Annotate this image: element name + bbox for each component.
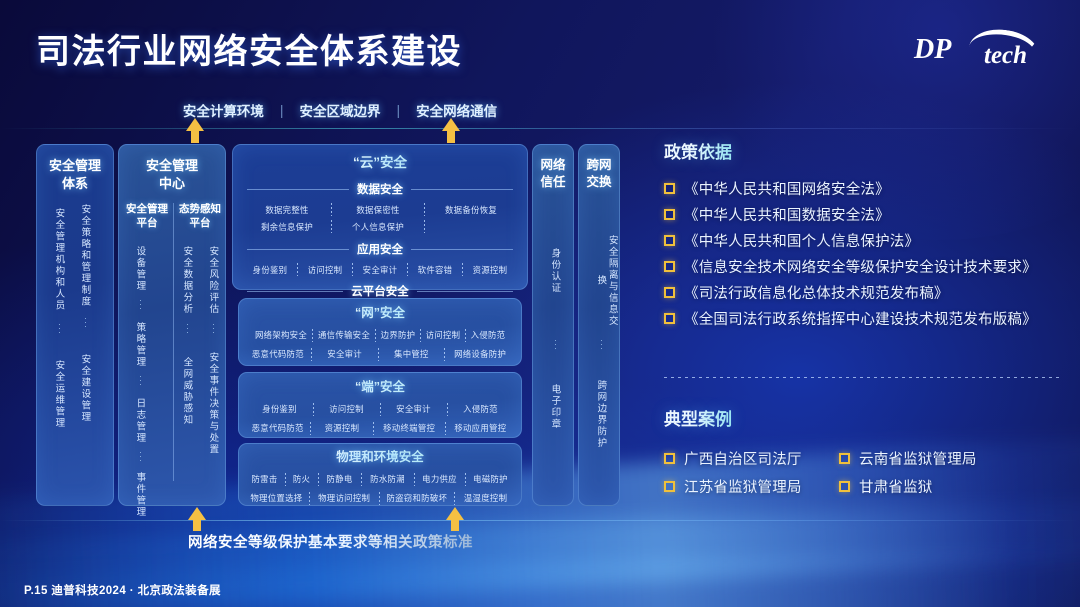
panel-security-management-center[interactable]: 安全管理 中心 安全管理 平台 设备管理 ··· 策略管理 ··· 日志管理 ·… <box>118 144 226 506</box>
mgmt-center-g1-item3: 日志管理 <box>134 393 145 449</box>
mgmt-center-g2-dots2: ··· <box>183 323 193 335</box>
policy-list-item[interactable]: 《中华人民共和国网络安全法》 <box>664 178 1037 199</box>
case-text: 云南省监狱管理局 <box>859 448 977 469</box>
cloud-item-data-confidentiality: 数据保密性 <box>332 204 424 216</box>
arrow-up-head-left <box>186 118 204 131</box>
mgmt-system-col2-top: 安全管理机构和人员 <box>53 201 64 319</box>
policy-text: 《全国司法行政系统指挥中心建设技术规范发布版稿》 <box>684 308 1037 329</box>
policy-text: 《信息安全技术网络安全等级保护安全设计技术要求》 <box>684 256 1037 277</box>
trust-item-e-seal: 电子印章 <box>549 379 560 435</box>
bullet-square-icon <box>664 481 675 492</box>
cloud-item-data-integrity: 数据完整性 <box>243 204 331 216</box>
cloud-section-platform-security-title: 云平台安全 <box>351 283 409 299</box>
mgmt-center-g1-dots3: ··· <box>136 451 146 463</box>
top-label-compute-env: 安全计算环境 <box>183 100 264 120</box>
arrow-up-head-bottom-right <box>446 507 464 520</box>
net-item-boundary: 边界防护 <box>376 329 420 341</box>
top-label-area-boundary: 安全区域边界 <box>300 100 381 120</box>
mgmt-center-group1-name-line2: 平台 <box>123 217 171 231</box>
policy-text: 《中华人民共和国个人信息保护法》 <box>684 230 919 251</box>
panel-endpoint-security[interactable]: “端”安全 身份鉴别 访问控制 安全审计 入侵防范 恶意代码防范 资源控制 移动… <box>238 372 522 438</box>
mgmt-center-g1-item2: 策略管理 <box>134 317 145 373</box>
mgmt-center-group1-name-line1: 安全管理 <box>123 203 171 217</box>
cloud-section-platform-security-head: 云平台安全 <box>241 283 519 299</box>
policy-list-item[interactable]: 《中华人民共和国个人信息保护法》 <box>664 230 1037 251</box>
panel-cross-network-exchange[interactable]: 跨网 交换 安全隔离与信息交换 ··· 跨网边界防护 <box>578 144 620 506</box>
physical-item-waterproof: 防水防潮 <box>362 473 414 485</box>
arrow-up-stem-bottom-left <box>193 519 201 531</box>
cloud-section-data-security-head: 数据安全 <box>241 181 519 197</box>
divider-bottom-hairline <box>0 520 1080 521</box>
trust-title-line1: 网络 <box>533 157 573 174</box>
mgmt-center-g2-item1: 安全风险评估 <box>207 241 218 319</box>
endpoint-item-identity-auth: 身份鉴别 <box>247 403 313 415</box>
net-row-2: 恶意代码防范 安全审计 集中管控 网络设备防护 <box>245 348 515 361</box>
physical-item-temp-humidity: 温湿度控制 <box>455 492 516 504</box>
policy-text: 《司法行政信息化总体技术规范发布稿》 <box>684 282 949 303</box>
logo-dp-text: DP <box>914 34 951 66</box>
bullet-square-icon <box>839 453 850 464</box>
net-panel-title: “网”安全 <box>245 305 515 322</box>
top-label-network-comm: 安全网络通信 <box>416 100 497 120</box>
policy-list-item[interactable]: 《司法行政信息化总体技术规范发布稿》 <box>664 282 1037 303</box>
net-item-intrusion: 入侵防范 <box>466 329 510 341</box>
bottom-banner-text: 网络安全等级保护基本要求等相关政策标准 <box>188 531 473 552</box>
panel-network-trust[interactable]: 网络 信任 身份认证 ··· 电子印章 <box>532 144 574 506</box>
exchange-item-isolation: 安全隔离与信息交换 <box>595 231 618 331</box>
cases-heading: 典型案例 <box>664 405 732 430</box>
bullet-square-icon <box>664 235 675 246</box>
cloud-item-security-audit: 安全审计 <box>353 264 407 276</box>
net-item-architecture: 网络架构安全 <box>250 329 312 341</box>
endpoint-item-mobile-app: 移动应用管控 <box>446 422 515 434</box>
exchange-title-line2: 交换 <box>579 174 619 191</box>
cloud-section-data-security-title: 数据安全 <box>357 181 403 197</box>
policy-list-item[interactable]: 《中华人民共和国数据安全法》 <box>664 204 1037 225</box>
item-dot-separator <box>424 220 425 233</box>
case-text: 甘肃省监狱 <box>859 476 933 497</box>
cases-grid: 广西自治区司法厅 云南省监狱管理局 江苏省监狱管理局 甘肃省监狱 <box>664 448 1029 497</box>
mgmt-system-col1-top: 安全策略和管理制度 <box>79 201 90 311</box>
policy-text: 《中华人民共和国网络安全法》 <box>684 178 890 199</box>
mgmt-system-col2-dots: ··· <box>55 323 65 335</box>
case-text: 江苏省监狱管理局 <box>684 476 802 497</box>
cloud-item-software-tolerance: 软件容错 <box>408 264 462 276</box>
mgmt-system-col2-bottom: 安全运维管理 <box>53 349 64 439</box>
cloud-panel-title: “云”安全 <box>241 154 519 172</box>
panel-cloud-security[interactable]: “云”安全 数据安全 数据完整性 数据保密性 数据备份恢复 剩余信息保护 个人信… <box>232 144 528 290</box>
exchange-item-boundary: 跨网边界防护 <box>595 379 606 449</box>
section-rule-right <box>411 189 513 190</box>
endpoint-item-access-control: 访问控制 <box>314 403 380 415</box>
top-label-row: 安全计算环境 | 安全区域边界 | 安全网络通信 <box>130 100 550 120</box>
bullet-square-icon <box>664 261 675 272</box>
mgmt-center-group2-name: 态势感知 平台 <box>175 203 225 230</box>
case-list-item[interactable]: 广西自治区司法厅 <box>664 448 839 469</box>
section-rule-left <box>247 249 349 250</box>
policy-heading: 政策依据 <box>664 138 732 163</box>
top-label-separator-1: | <box>280 102 284 118</box>
trust-item-dots: ··· <box>551 339 561 351</box>
mgmt-center-g1-dots1: ··· <box>136 299 146 311</box>
endpoint-item-malicious-code: 恶意代码防范 <box>245 422 310 434</box>
physical-item-power: 电力供应 <box>415 473 465 485</box>
endpoint-row-1: 身份鉴别 访问控制 安全审计 入侵防范 <box>245 403 515 416</box>
mgmt-center-g1-item1: 设备管理 <box>134 241 145 297</box>
cloud-item-residual-info: 剩余信息保护 <box>243 221 331 233</box>
bullet-square-icon <box>664 313 675 324</box>
endpoint-item-security-audit: 安全审计 <box>381 403 447 415</box>
mgmt-system-title-line2: 体系 <box>37 175 113 193</box>
bullet-square-icon <box>664 453 675 464</box>
physical-item-anti-theft: 防盗窃和防破坏 <box>380 492 455 504</box>
physical-row-1: 防雷击 防火 防静电 防水防潮 电力供应 电磁防护 <box>244 473 516 486</box>
panel-physical-environment-security[interactable]: 物理和环境安全 防雷击 防火 防静电 防水防潮 电力供应 电磁防护 物理位置选择… <box>238 443 522 506</box>
dptech-logo: DP tech <box>908 30 1058 74</box>
arrow-up-stem-right <box>447 130 455 143</box>
bullet-square-icon <box>664 287 675 298</box>
mgmt-center-g2-item4: 全网威胁感知 <box>181 345 192 437</box>
footer-text: P.15 迪普科技2024 · 北京政法装备展 <box>24 582 221 598</box>
right-section-divider <box>664 377 1060 378</box>
section-rule-left <box>247 291 343 292</box>
endpoint-item-mobile-terminal: 移动终端管控 <box>374 422 445 434</box>
case-text: 广西自治区司法厅 <box>684 448 802 469</box>
section-rule-right <box>417 291 513 292</box>
physical-panel-title: 物理和环境安全 <box>244 449 516 466</box>
physical-item-fire: 防火 <box>286 473 318 485</box>
mgmt-center-g2-item3: 安全事件决策与处置 <box>207 345 218 463</box>
divider-top-hairline <box>0 128 1080 129</box>
mgmt-center-vertical-separator <box>173 203 174 481</box>
panel-security-management-system[interactable]: 安全管理 体系 安全策略和管理制度 ··· 安全建设管理 安全管理机构和人员 ·… <box>36 144 114 506</box>
endpoint-panel-title: “端”安全 <box>245 379 515 396</box>
cloud-section-app-security-title: 应用安全 <box>357 241 403 257</box>
bullet-square-icon <box>839 481 850 492</box>
cloud-item-data-backup: 数据备份恢复 <box>425 204 517 216</box>
mgmt-center-group1-name: 安全管理 平台 <box>123 203 171 230</box>
net-item-central-control: 集中管控 <box>379 348 445 360</box>
case-list-item[interactable]: 甘肃省监狱 <box>839 476 1029 497</box>
policy-list-item[interactable]: 《全国司法行政系统指挥中心建设技术规范发布版稿》 <box>664 308 1037 329</box>
mgmt-center-g2-dots1: ··· <box>209 323 219 335</box>
physical-item-emc: 电磁防护 <box>466 473 516 485</box>
endpoint-row-2: 恶意代码防范 资源控制 移动终端管控 移动应用管控 <box>245 422 515 435</box>
cloud-data-row-2: 剩余信息保护 个人信息保护 <box>241 220 519 233</box>
mgmt-center-group2-name-line2: 平台 <box>175 217 225 231</box>
physical-item-lightning: 防雷击 <box>245 473 285 485</box>
arrow-up-head-right <box>442 118 460 131</box>
policy-list-item[interactable]: 《信息安全技术网络安全等级保护安全设计技术要求》 <box>664 256 1037 277</box>
mgmt-center-title-line1: 安全管理 <box>119 157 225 175</box>
net-row-1: 网络架构安全 通信传输安全 边界防护 访问控制 入侵防范 <box>245 329 515 342</box>
mgmt-center-g1-item4: 事件管理 <box>134 467 145 523</box>
mgmt-center-group2-name-line1: 态势感知 <box>175 203 225 217</box>
cloud-section-app-security-head: 应用安全 <box>241 241 519 257</box>
net-item-transmission: 通信传输安全 <box>313 329 375 341</box>
cloud-item-personal-info: 个人信息保护 <box>332 221 424 233</box>
endpoint-item-intrusion: 入侵防范 <box>448 403 514 415</box>
top-label-separator-2: | <box>397 102 401 118</box>
exchange-item-dots: ··· <box>597 339 607 351</box>
section-rule-right <box>411 249 513 250</box>
arrow-up-stem-left <box>191 130 199 143</box>
net-item-device-protection: 网络设备防护 <box>445 348 515 360</box>
mgmt-system-col1-dots: ··· <box>81 317 91 329</box>
logo-tech-text: tech <box>984 42 1027 70</box>
page-title: 司法行业网络安全体系建设 <box>36 24 462 73</box>
mgmt-center-g1-dots2: ··· <box>136 375 146 387</box>
bullet-square-icon <box>664 183 675 194</box>
trust-title-line2: 信任 <box>533 174 573 191</box>
bullet-square-icon <box>664 209 675 220</box>
net-item-security-audit: 安全审计 <box>312 348 378 360</box>
physical-row-2: 物理位置选择 物理访问控制 防盗窃和防破坏 温湿度控制 <box>244 492 516 505</box>
exchange-title-line1: 跨网 <box>579 157 619 174</box>
mgmt-system-col1-bottom: 安全建设管理 <box>79 343 90 433</box>
net-item-malicious-code: 恶意代码防范 <box>245 348 311 360</box>
physical-item-static: 防静电 <box>319 473 361 485</box>
cloud-item-access-control: 访问控制 <box>298 264 352 276</box>
mgmt-center-g2-item2: 安全数据分析 <box>181 241 192 319</box>
arrow-up-head-bottom-left <box>188 507 206 520</box>
endpoint-item-resource-control: 资源控制 <box>311 422 372 434</box>
net-item-access-control: 访问控制 <box>421 329 465 341</box>
mgmt-center-title-line2: 中心 <box>119 175 225 193</box>
physical-item-location: 物理位置选择 <box>244 492 309 504</box>
physical-item-access-control: 物理访问控制 <box>310 492 379 504</box>
policy-text: 《中华人民共和国数据安全法》 <box>684 204 890 225</box>
policy-list: 《中华人民共和国网络安全法》 《中华人民共和国数据安全法》 《中华人民共和国个人… <box>664 178 1037 334</box>
panel-network-security[interactable]: “网”安全 网络架构安全 通信传输安全 边界防护 访问控制 入侵防范 恶意代码防… <box>238 298 522 366</box>
cloud-data-row-1: 数据完整性 数据保密性 数据备份恢复 <box>241 203 519 216</box>
mgmt-system-title-line1: 安全管理 <box>37 157 113 175</box>
arrow-up-stem-bottom-right <box>451 519 459 531</box>
case-list-item[interactable]: 云南省监狱管理局 <box>839 448 1029 469</box>
cloud-app-row-1: 身份鉴别 访问控制 安全审计 软件容错 资源控制 <box>241 263 519 276</box>
trust-item-identity-auth: 身份认证 <box>549 243 560 299</box>
case-list-item[interactable]: 江苏省监狱管理局 <box>664 476 839 497</box>
section-rule-left <box>247 189 349 190</box>
cloud-item-resource-control: 资源控制 <box>463 264 517 276</box>
slide-canvas: 司法行业网络安全体系建设 DP tech 安全计算环境 | 安全区域边界 | 安… <box>0 0 1080 607</box>
cloud-item-identity-auth: 身份鉴别 <box>243 264 297 276</box>
